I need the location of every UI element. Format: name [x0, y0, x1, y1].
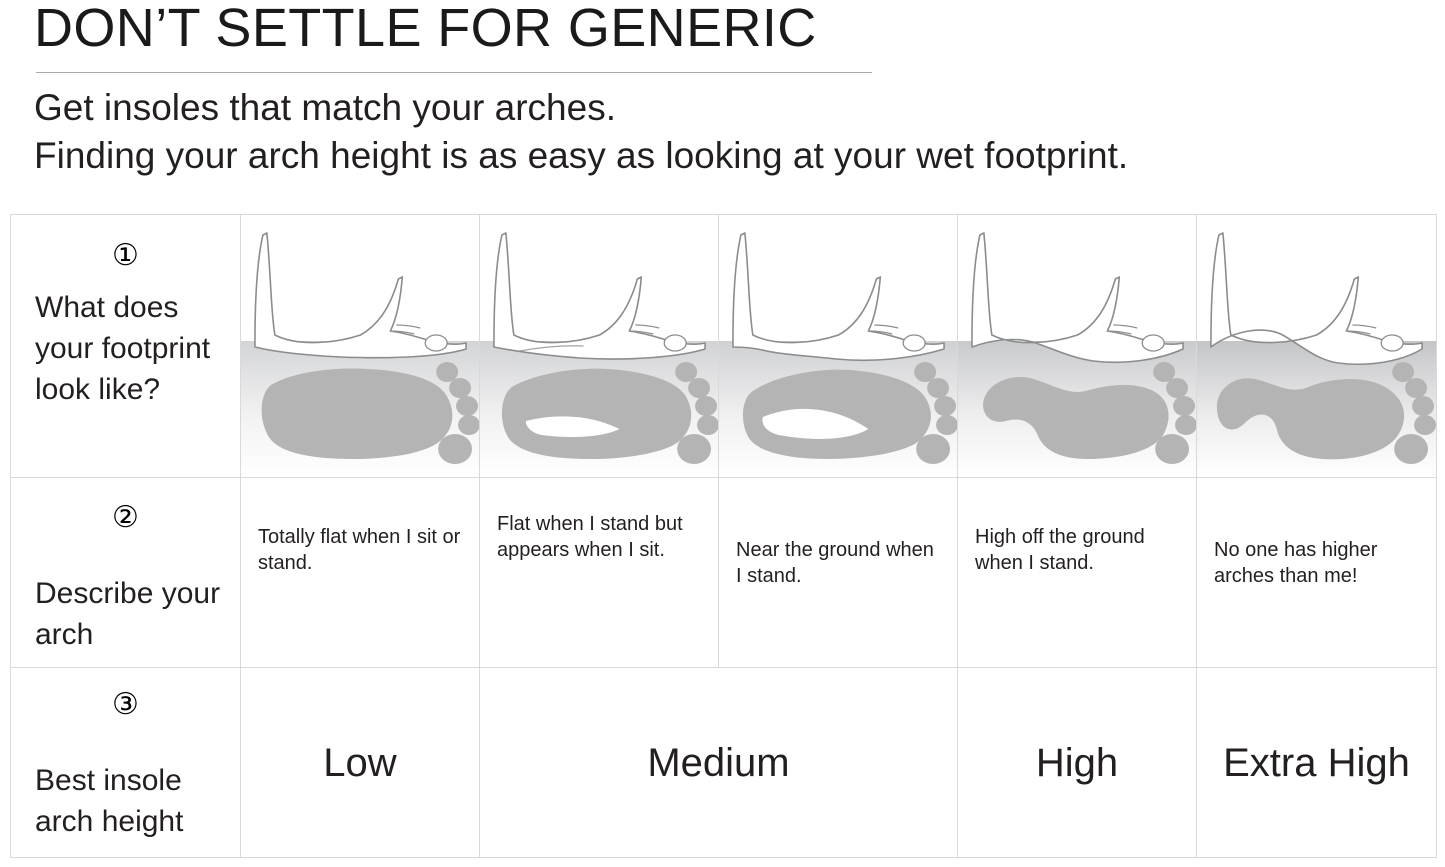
- footprint-cell-low: [480, 215, 719, 477]
- description-cell-extra-high: No one has higher arches than me!: [1197, 478, 1437, 667]
- description-text: Totally flat when I sit or stand.: [258, 524, 467, 576]
- subtitle-line-2: Finding your arch height is as easy as l…: [34, 132, 1128, 180]
- arch-comparison-table: ① What does your footprint look like?: [10, 214, 1437, 858]
- arch-height-value: Low: [241, 739, 479, 787]
- arch-height-cell-low: Low: [241, 668, 480, 857]
- arch-height-cell-extra-high: Extra High: [1197, 668, 1437, 857]
- footprint-cell-flat: [241, 215, 480, 477]
- subtitle-line-1: Get insoles that match your arches.: [34, 84, 616, 132]
- description-cell-flat: Totally flat when I sit or stand.: [241, 478, 480, 667]
- medium-arch-footprint-illustration: [719, 215, 957, 477]
- description-cell-low: Flat when I stand but appears when I sit…: [480, 478, 719, 667]
- step-number-3-icon: ③: [11, 690, 240, 720]
- header: DON’T SETTLE FOR GENERIC Get insoles tha…: [0, 0, 1445, 210]
- footprint-cell-high: [958, 215, 1197, 477]
- row-header-footprint: ① What does your footprint look like?: [11, 215, 241, 477]
- description-cell-medium: Near the ground when I stand.: [719, 478, 958, 667]
- arch-height-cell-high: High: [958, 668, 1197, 857]
- arch-height-value: Extra High: [1197, 739, 1436, 787]
- row-header-arch-height: ③ Best insole arch height: [11, 668, 241, 857]
- footprint-cell-extra-high: [1197, 215, 1437, 477]
- description-cell-high: High off the ground when I stand.: [958, 478, 1197, 667]
- arch-height-cell-medium: Medium: [480, 668, 958, 857]
- row-header-label: Best insole arch height: [35, 760, 230, 842]
- low-arch-footprint-illustration: [480, 215, 718, 477]
- row-header-describe: ② Describe your arch: [11, 478, 241, 667]
- description-text: High off the ground when I stand.: [975, 524, 1184, 576]
- arch-height-value: High: [958, 739, 1196, 787]
- table-row-description: ② Describe your arch Totally flat when I…: [11, 478, 1437, 668]
- row-header-label: What does your footprint look like?: [35, 287, 230, 410]
- description-text: Near the ground when I stand.: [736, 537, 945, 589]
- arch-height-infographic: DON’T SETTLE FOR GENERIC Get insoles tha…: [0, 0, 1445, 867]
- step-number-2-icon: ②: [11, 503, 240, 533]
- step-number-1-icon: ①: [11, 241, 240, 271]
- table-row-arch-height: ③ Best insole arch height Low Medium Hig…: [11, 668, 1437, 858]
- title-divider: [36, 72, 872, 73]
- table-row-footprint: ① What does your footprint look like?: [11, 215, 1437, 478]
- description-text: No one has higher arches than me!: [1214, 537, 1424, 589]
- flat-arch-footprint-illustration: [241, 215, 479, 477]
- extra-high-arch-footprint-illustration: [1197, 215, 1436, 477]
- footprint-cell-medium: [719, 215, 958, 477]
- description-text: Flat when I stand but appears when I sit…: [497, 511, 706, 563]
- high-arch-footprint-illustration: [958, 215, 1196, 477]
- arch-height-value: Medium: [480, 739, 957, 787]
- page-title: DON’T SETTLE FOR GENERIC: [34, 0, 817, 60]
- row-header-label: Describe your arch: [35, 573, 230, 655]
